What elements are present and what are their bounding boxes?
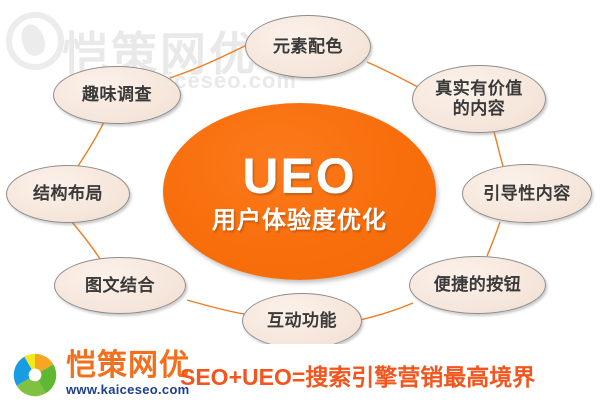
center-subtitle: 用户体验度优化 xyxy=(212,209,387,233)
connector-interactive-to-image-text xyxy=(187,300,244,314)
infographic-canvas: 恺策网优 www.kaiceseo.com UEO 用户体验度优化 xyxy=(0,0,600,408)
node-fun-survey[interactable]: 趣味调查 xyxy=(53,66,181,124)
center-title: UEO xyxy=(242,151,356,201)
node-convenient-button[interactable]: 便捷的按钮 xyxy=(409,256,546,314)
footer-divider xyxy=(0,344,600,346)
node-interactive[interactable]: 互动功能 xyxy=(242,293,362,349)
footer-bar: 恺策网优 www.kaiceseo.com SEO+UEO=搜索引擎营销最高境界 xyxy=(0,344,600,408)
node-element-color-label: 元素配色 xyxy=(273,37,343,57)
node-valuable-content-line1: 真实有价值 xyxy=(435,79,523,98)
footer-tagline-cn: 搜索引擎营销最高境界 xyxy=(305,364,535,390)
node-interactive-label: 互动功能 xyxy=(267,311,337,331)
node-structure-layout[interactable]: 结构布局 xyxy=(6,165,130,223)
node-element-color[interactable]: 元素配色 xyxy=(245,15,371,78)
node-image-text-label: 图文结合 xyxy=(85,276,155,296)
connector-element-color-to-valuable-content xyxy=(367,62,420,88)
footer-tagline-en: SEO+UEO= xyxy=(180,364,305,390)
node-valuable-content-line2: 的内容 xyxy=(453,99,506,118)
connector-convenient-button-to-interactive xyxy=(360,303,413,320)
footer-tagline: SEO+UEO=搜索引擎营销最高境界 xyxy=(180,358,535,392)
center-node-ueo[interactable]: UEO 用户体验度优化 xyxy=(163,103,436,280)
node-image-text[interactable]: 图文结合 xyxy=(54,257,186,314)
connector-valuable-content-to-guiding-content xyxy=(494,132,503,166)
kaiceseo-logo-icon xyxy=(12,352,58,398)
node-guiding-content-label: 引导性内容 xyxy=(483,184,571,204)
node-structure-layout-label: 结构布局 xyxy=(33,184,103,204)
footer-url: www.kaiceseo.com xyxy=(66,382,190,397)
node-fun-survey-label: 趣味调查 xyxy=(82,85,152,105)
node-convenient-button-label: 便捷的按钮 xyxy=(434,275,522,295)
connector-image-text-to-structure-layout xyxy=(72,222,100,259)
connector-fun-survey-to-element-color xyxy=(170,44,249,78)
node-valuable-content[interactable]: 真实有价值 的内容 xyxy=(412,65,546,133)
node-guiding-content[interactable]: 引导性内容 xyxy=(462,164,592,223)
connector-structure-layout-to-fun-survey xyxy=(78,122,104,166)
connector-guiding-content-to-convenient-button xyxy=(487,222,500,256)
footer-brand: 恺策网优 xyxy=(66,350,190,382)
node-valuable-content-label: 真实有价值 的内容 xyxy=(435,79,523,118)
